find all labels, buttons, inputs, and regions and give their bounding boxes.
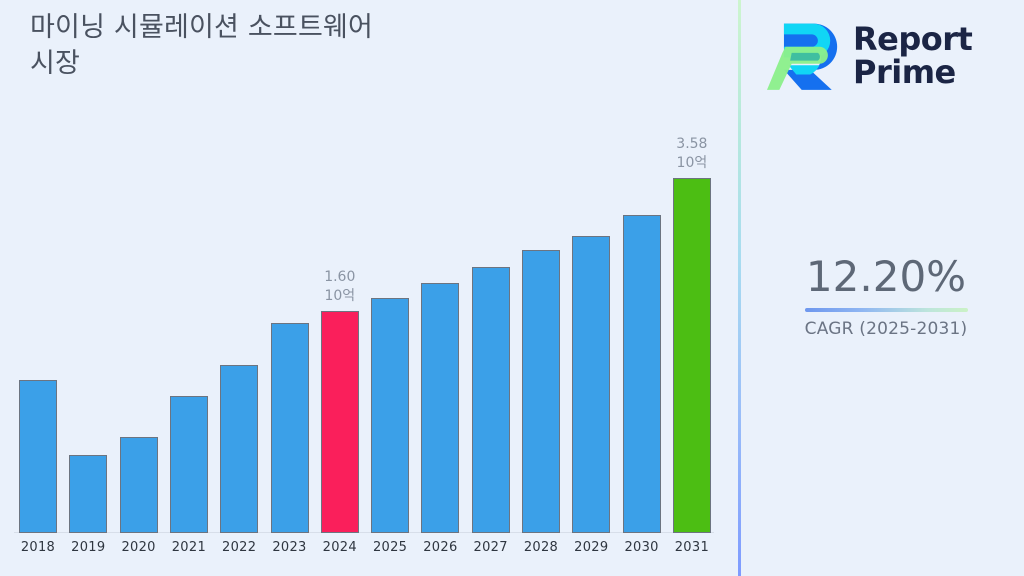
bar-2022[interactable]	[220, 365, 258, 533]
bar-2027[interactable]	[472, 267, 510, 533]
bar-chart: 2018201920202021202220231.60 10억20242025…	[0, 0, 738, 576]
bar-2023[interactable]	[271, 323, 309, 533]
chart-panel: 마이닝 시뮬레이션 소프트웨어 시장 201820192020202120222…	[0, 0, 738, 576]
logo: Report Prime	[765, 8, 1015, 104]
bar-2026[interactable]	[421, 283, 459, 533]
logo-wordmark: Report Prime	[853, 23, 972, 90]
bar-2025[interactable]	[371, 298, 409, 533]
bar-2030[interactable]	[623, 215, 661, 533]
bar-2019[interactable]	[69, 455, 107, 533]
cagr-value: 12.20%	[761, 252, 1011, 302]
x-tick-2031: 2031	[662, 540, 722, 555]
screenshot-root: 마이닝 시뮬레이션 소프트웨어 시장 201820192020202120222…	[0, 0, 1024, 576]
report-prime-logo-icon	[765, 19, 843, 93]
bar-2020[interactable]	[120, 437, 158, 533]
cagr-block: 12.20% CAGR (2025-2031)	[761, 252, 1011, 339]
cagr-caption: CAGR (2025-2031)	[761, 319, 1011, 339]
branding-panel: Report Prime 12.20% CAGR (2025-2031)	[741, 0, 1024, 576]
bar-2021[interactable]	[170, 396, 208, 533]
bar-value-label-2031: 3.58 10억	[652, 135, 732, 173]
bar-2018[interactable]	[19, 380, 57, 533]
cagr-divider-rule	[805, 308, 968, 312]
bar-2028[interactable]	[522, 250, 560, 533]
bar-2031[interactable]	[673, 178, 711, 533]
bar-value-label-2024: 1.60 10억	[300, 268, 380, 306]
bar-2029[interactable]	[572, 236, 610, 533]
bar-2024[interactable]	[321, 311, 359, 533]
